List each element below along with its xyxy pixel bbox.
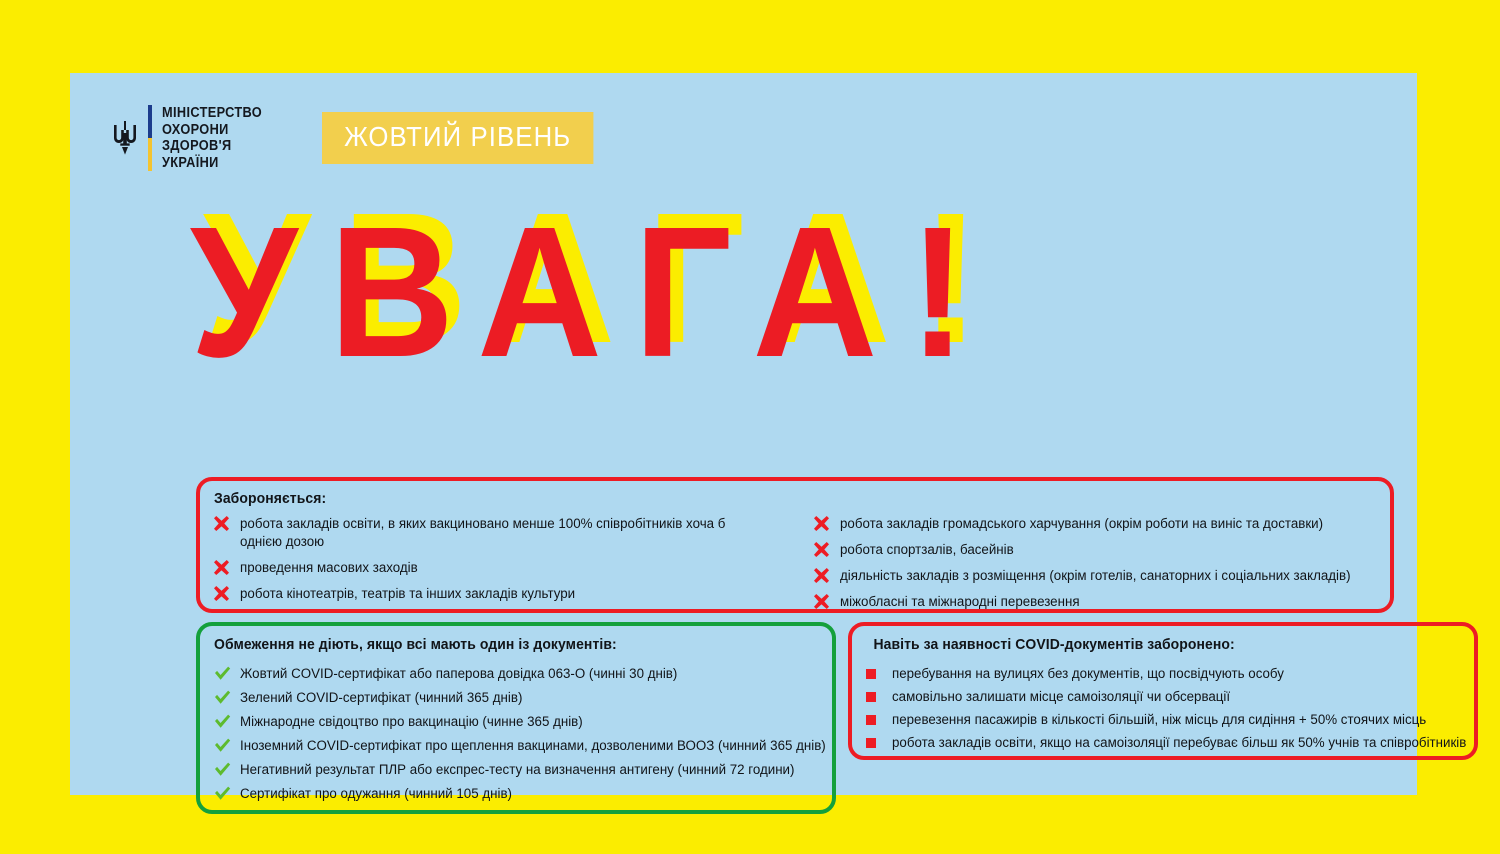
list-item-label: робота закладів громадського харчування … [840,515,1323,533]
list-item-label: робота закладів освіти, якщо на самоізол… [892,734,1466,752]
prohibitions-list-left: робота закладів освіти, в яких вакцинова… [214,515,804,611]
list-item: робота закладів громадського харчування … [814,515,1379,533]
list-item: перебування на вулицях без документів, щ… [866,665,1466,683]
poster-panel: МІНІСТЕРСТВО ОХОРОНИ ЗДОРОВ'Я УКРАЇНИ ЖО… [70,73,1417,795]
list-item-label: Негативний результат ПЛР або експрес-тес… [240,761,794,779]
list-item-label: перебування на вулицях без документів, щ… [892,665,1284,683]
still-prohibited-box: Навіть за наявності COVID-документів заб… [848,622,1478,760]
ministry-line-4: УКРАЇНИ [162,155,262,172]
ministry-logo: МІНІСТЕРСТВО ОХОРОНИ ЗДОРОВ'Я УКРАЇНИ [112,105,276,171]
list-item-label: проведення масових заходів [240,559,418,577]
x-mark-icon [814,593,833,609]
list-item-label: робота закладів освіти, в яких вакцинова… [240,515,770,551]
list-item: робота закладів освіти, в яких вакцинова… [214,515,804,551]
list-item-label: Сертифікат про одужання (чинний 105 днів… [240,785,512,803]
flag-divider [148,105,152,171]
check-mark-icon [214,713,233,729]
square-bullet-icon [866,711,885,725]
list-item-label: Зелений COVID-сертифікат (чинний 365 дні… [240,689,522,707]
trident-icon [112,121,138,155]
list-item: робота кінотеатрів, театрів та інших зак… [214,585,804,603]
check-mark-icon [214,689,233,705]
prohibitions-box: Забороняється: робота закладів освіти, в… [196,477,1394,613]
square-bullet-icon [866,665,885,679]
x-mark-icon [214,559,233,575]
list-item: Зелений COVID-сертифікат (чинний 365 дні… [214,689,824,707]
list-item-label: Міжнародне свідоцтво про вакцинацію (чин… [240,713,583,731]
exemptions-title: Обмеження не діють, якщо всі мають один … [214,636,781,653]
list-item: Іноземний COVID-сертифікат про щеплення … [214,737,824,755]
list-item: робота спортзалів, басейнів [814,541,1379,559]
list-item: Негативний результат ПЛР або експрес-тес… [214,761,824,779]
x-mark-icon [814,515,833,531]
list-item-label: робота кінотеатрів, театрів та інших зак… [240,585,575,603]
list-item-label: діяльність закладів з розміщення (окрім … [840,567,1351,585]
list-item: самовільно залишати місце самоізоляції ч… [866,688,1466,706]
page-title: УВАГА! [190,193,1334,393]
prohibitions-title: Забороняється: [214,490,1298,507]
square-bullet-icon [866,688,885,702]
still-prohibited-list: перебування на вулицях без документів, щ… [866,665,1466,752]
x-mark-icon [814,541,833,557]
list-item-label: Жовтий COVID-сертифікат або паперова дов… [240,665,677,683]
list-item-label: перевезення пасажирів в кількості більші… [892,711,1426,729]
list-item: Сертифікат про одужання (чинний 105 днів… [214,785,824,803]
poster-header: МІНІСТЕРСТВО ОХОРОНИ ЗДОРОВ'Я УКРАЇНИ ЖО… [112,105,617,171]
list-item: міжобласні та міжнародні перевезення [814,593,1379,611]
check-mark-icon [214,665,233,681]
ministry-line-3: ЗДОРОВ'Я [162,138,262,155]
list-item: діяльність закладів з розміщення (окрім … [814,567,1379,585]
list-item: проведення масових заходів [214,559,804,577]
prohibitions-list-right: робота закладів громадського харчування … [814,515,1379,619]
list-item-label: самовільно залишати місце самоізоляції ч… [892,688,1230,706]
exemptions-box: Обмеження не діють, якщо всі мають один … [196,622,836,814]
list-item: Міжнародне свідоцтво про вакцинацію (чин… [214,713,824,731]
x-mark-icon [214,585,233,601]
list-item: перевезення пасажирів в кількості більші… [866,711,1466,729]
x-mark-icon [814,567,833,583]
alert-level-badge: ЖОВТИЙ РІВЕНЬ [322,112,593,164]
still-prohibited-title: Навіть за наявності COVID-документів заб… [866,636,1424,653]
list-item-label: міжобласні та міжнародні перевезення [840,593,1080,611]
check-mark-icon [214,785,233,801]
check-mark-icon [214,737,233,753]
ministry-name: МІНІСТЕРСТВО ОХОРОНИ ЗДОРОВ'Я УКРАЇНИ [162,105,262,171]
list-item: Жовтий COVID-сертифікат або паперова дов… [214,665,824,683]
ministry-line-1: МІНІСТЕРСТВО [162,105,262,122]
ministry-line-2: ОХОРОНИ [162,122,262,139]
check-mark-icon [214,761,233,777]
list-item-label: робота спортзалів, басейнів [840,541,1014,559]
x-mark-icon [214,515,233,531]
list-item-label: Іноземний COVID-сертифікат про щеплення … [240,737,826,755]
square-bullet-icon [866,734,885,748]
exemptions-list: Жовтий COVID-сертифікат або паперова дов… [214,665,824,803]
list-item: робота закладів освіти, якщо на самоізол… [866,734,1466,752]
